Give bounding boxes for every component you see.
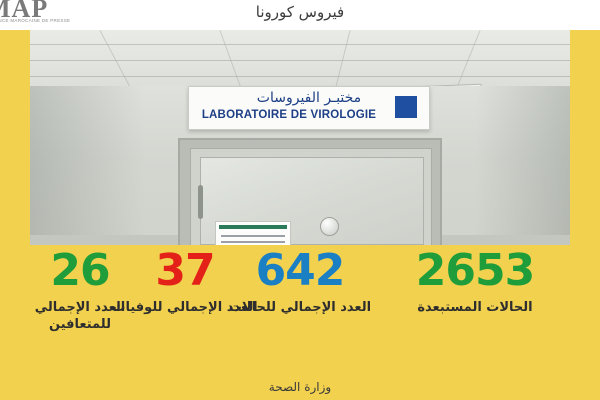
header-band: MAP AGENCE MAROCAINE DE PRESSE فيروس كور… <box>0 0 600 30</box>
stat-excluded-value: 2653 <box>375 245 575 297</box>
page-title: فيروس كورونا <box>0 3 600 21</box>
stat-cases-value: 642 <box>225 245 375 297</box>
stat-excluded: 2653 الحالات المستبعدة <box>375 245 575 316</box>
statistics-row: 26 العدد الإجمالي للمتعافين 37 العدد الإ… <box>0 245 600 365</box>
sign-logo-badge <box>395 96 417 118</box>
stat-excluded-label: الحالات المستبعدة <box>375 299 575 316</box>
door-notice-paper <box>215 221 291 245</box>
sign-arabic-text: مختبـر الفيروسات <box>189 90 429 106</box>
ceiling <box>30 30 570 88</box>
sign-french-text: LABORATOIRE DE VIROLOGIE <box>189 109 389 121</box>
stat-cases-label: العدد الإجمالي للحالات <box>225 299 375 316</box>
laboratory-sign: مختبـر الفيروسات LABORATOIRE DE VIROLOGI… <box>188 86 430 130</box>
laboratory-photo: مختبـر الفيروسات LABORATOIRE DE VIROLOGI… <box>30 30 570 245</box>
source-footer: وزارة الصحة <box>0 380 600 394</box>
laboratory-door <box>190 148 432 245</box>
door-knob <box>320 217 339 236</box>
door-handle <box>198 185 203 219</box>
wall-shadow-left <box>30 86 145 245</box>
infographic-canvas: MAP AGENCE MAROCAINE DE PRESSE فيروس كور… <box>0 0 600 400</box>
wall-shadow-right <box>475 86 570 245</box>
door-frame <box>178 138 442 245</box>
stat-cases: 642 العدد الإجمالي للحالات <box>225 245 375 316</box>
notice-header-bar <box>219 225 287 229</box>
